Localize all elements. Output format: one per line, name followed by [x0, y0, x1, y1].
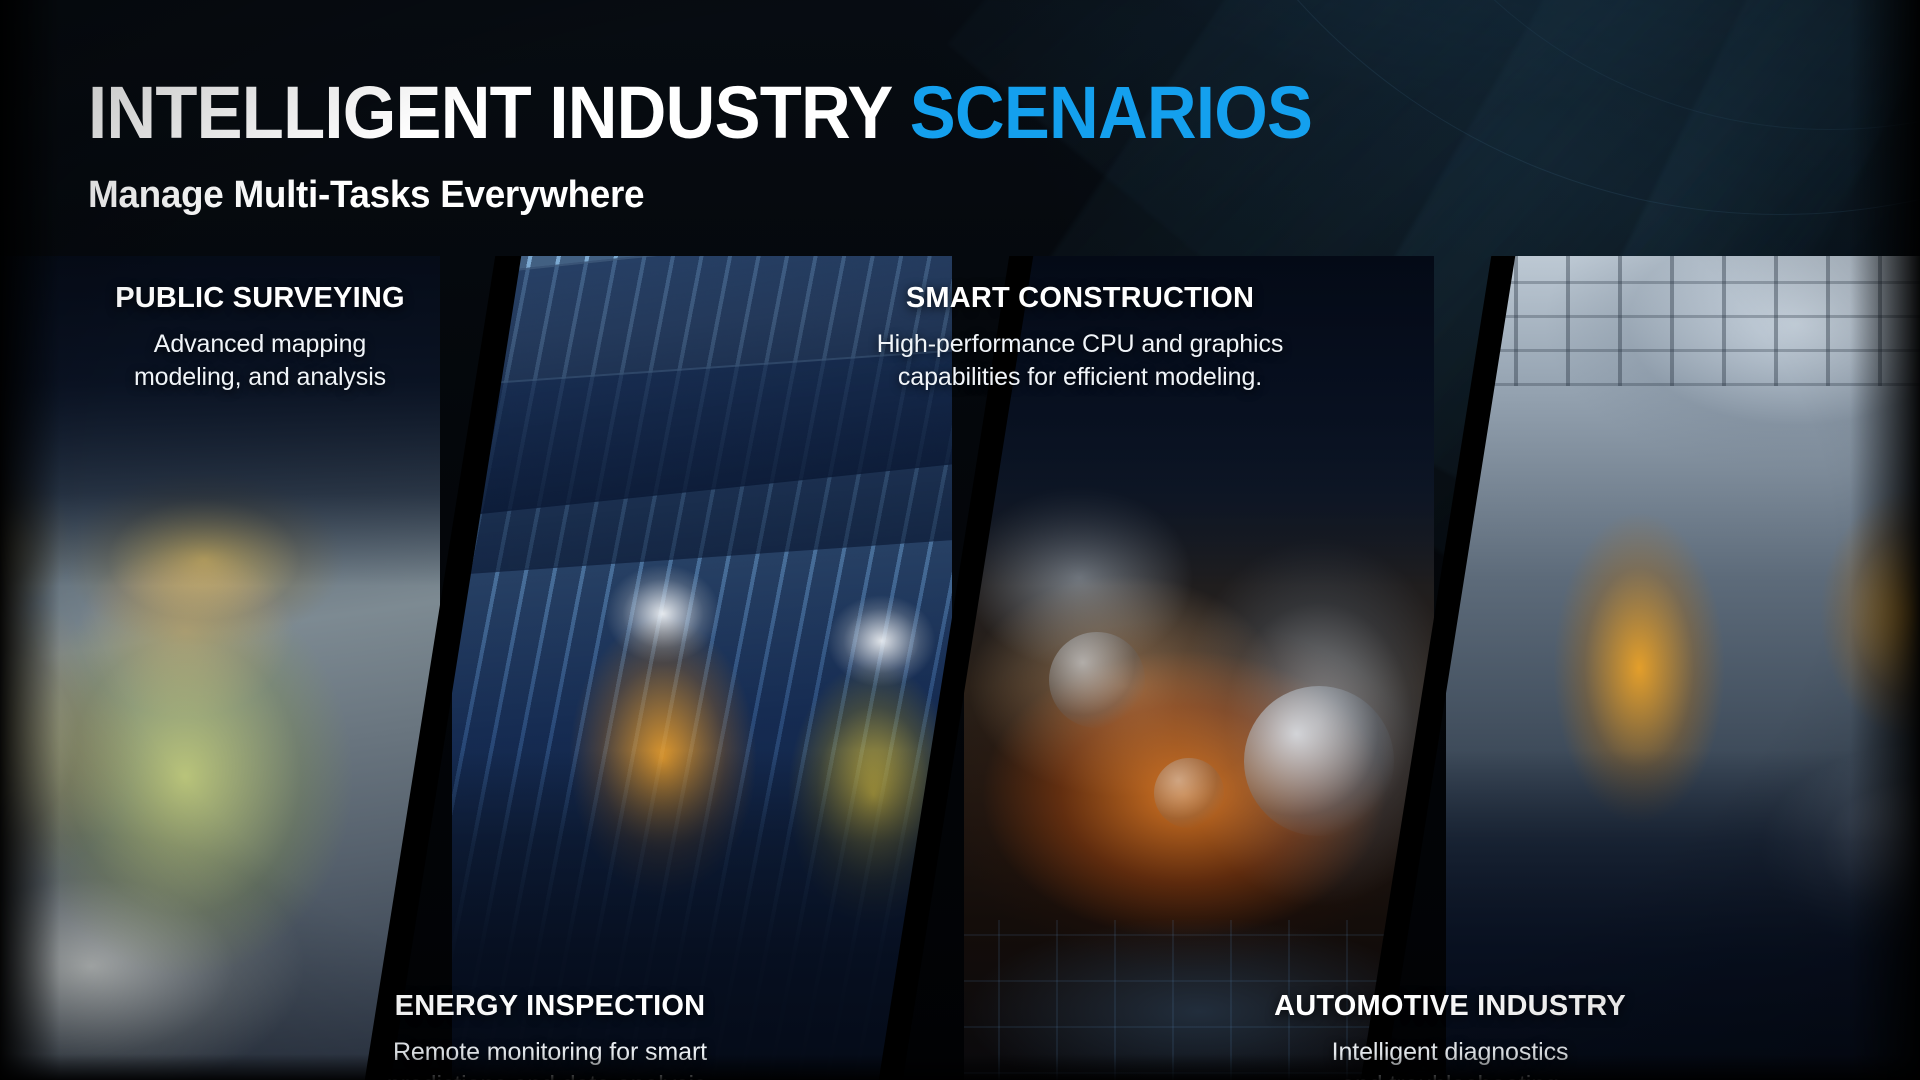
- page-title-accent: SCENARIOS: [910, 71, 1312, 154]
- panel-description: Intelligent diagnostics and troubleshoot…: [1200, 1036, 1700, 1080]
- page-subtitle: Manage Multi-Tasks Everywhere: [88, 174, 1365, 217]
- panel-caption-smart-construction: SMART CONSTRUCTION High-performance CPU …: [840, 282, 1320, 393]
- panel-description-line: Advanced mapping: [30, 328, 490, 361]
- panel-image-automotive-industry: [1446, 256, 1920, 1080]
- panel-description-line: modeling, and analysis: [30, 361, 490, 394]
- panel-description: Advanced mapping modeling, and analysis: [30, 328, 490, 393]
- panel-description-line: predictions and data analysis.: [310, 1069, 790, 1080]
- factory-ceiling-truss: [1446, 256, 1920, 386]
- panel-caption-public-surveying: PUBLIC SURVEYING Advanced mapping modeli…: [30, 282, 490, 393]
- panel-description-line: Intelligent diagnostics: [1200, 1036, 1700, 1069]
- slide-canvas: INTELLIGENT INDUSTRY SCENARIOS Manage Mu…: [0, 0, 1920, 1080]
- panel-description-line: and troubleshooting: [1200, 1069, 1700, 1080]
- panel-caption-automotive-industry: AUTOMOTIVE INDUSTRY Intelligent diagnost…: [1200, 990, 1700, 1080]
- panel-title: PUBLIC SURVEYING: [30, 282, 490, 315]
- panel-title: AUTOMOTIVE INDUSTRY: [1200, 990, 1700, 1023]
- panel-caption-energy-inspection: ENERGY INSPECTION Remote monitoring for …: [310, 990, 790, 1080]
- panel-description-line: capabilities for efficient modeling.: [840, 361, 1320, 394]
- panel-title: ENERGY INSPECTION: [310, 990, 790, 1023]
- panel-title: SMART CONSTRUCTION: [840, 282, 1320, 315]
- panel-description: Remote monitoring for smart predictions …: [310, 1036, 790, 1080]
- panel-description: High-performance CPU and graphics capabi…: [840, 328, 1320, 393]
- panel-description-line: High-performance CPU and graphics: [840, 328, 1320, 361]
- header: INTELLIGENT INDUSTRY SCENARIOS Manage Mu…: [88, 76, 1404, 217]
- panel-description-line: Remote monitoring for smart: [310, 1036, 790, 1069]
- page-title-main: INTELLIGENT INDUSTRY: [88, 71, 891, 154]
- page-title: INTELLIGENT INDUSTRY SCENARIOS: [88, 76, 1312, 150]
